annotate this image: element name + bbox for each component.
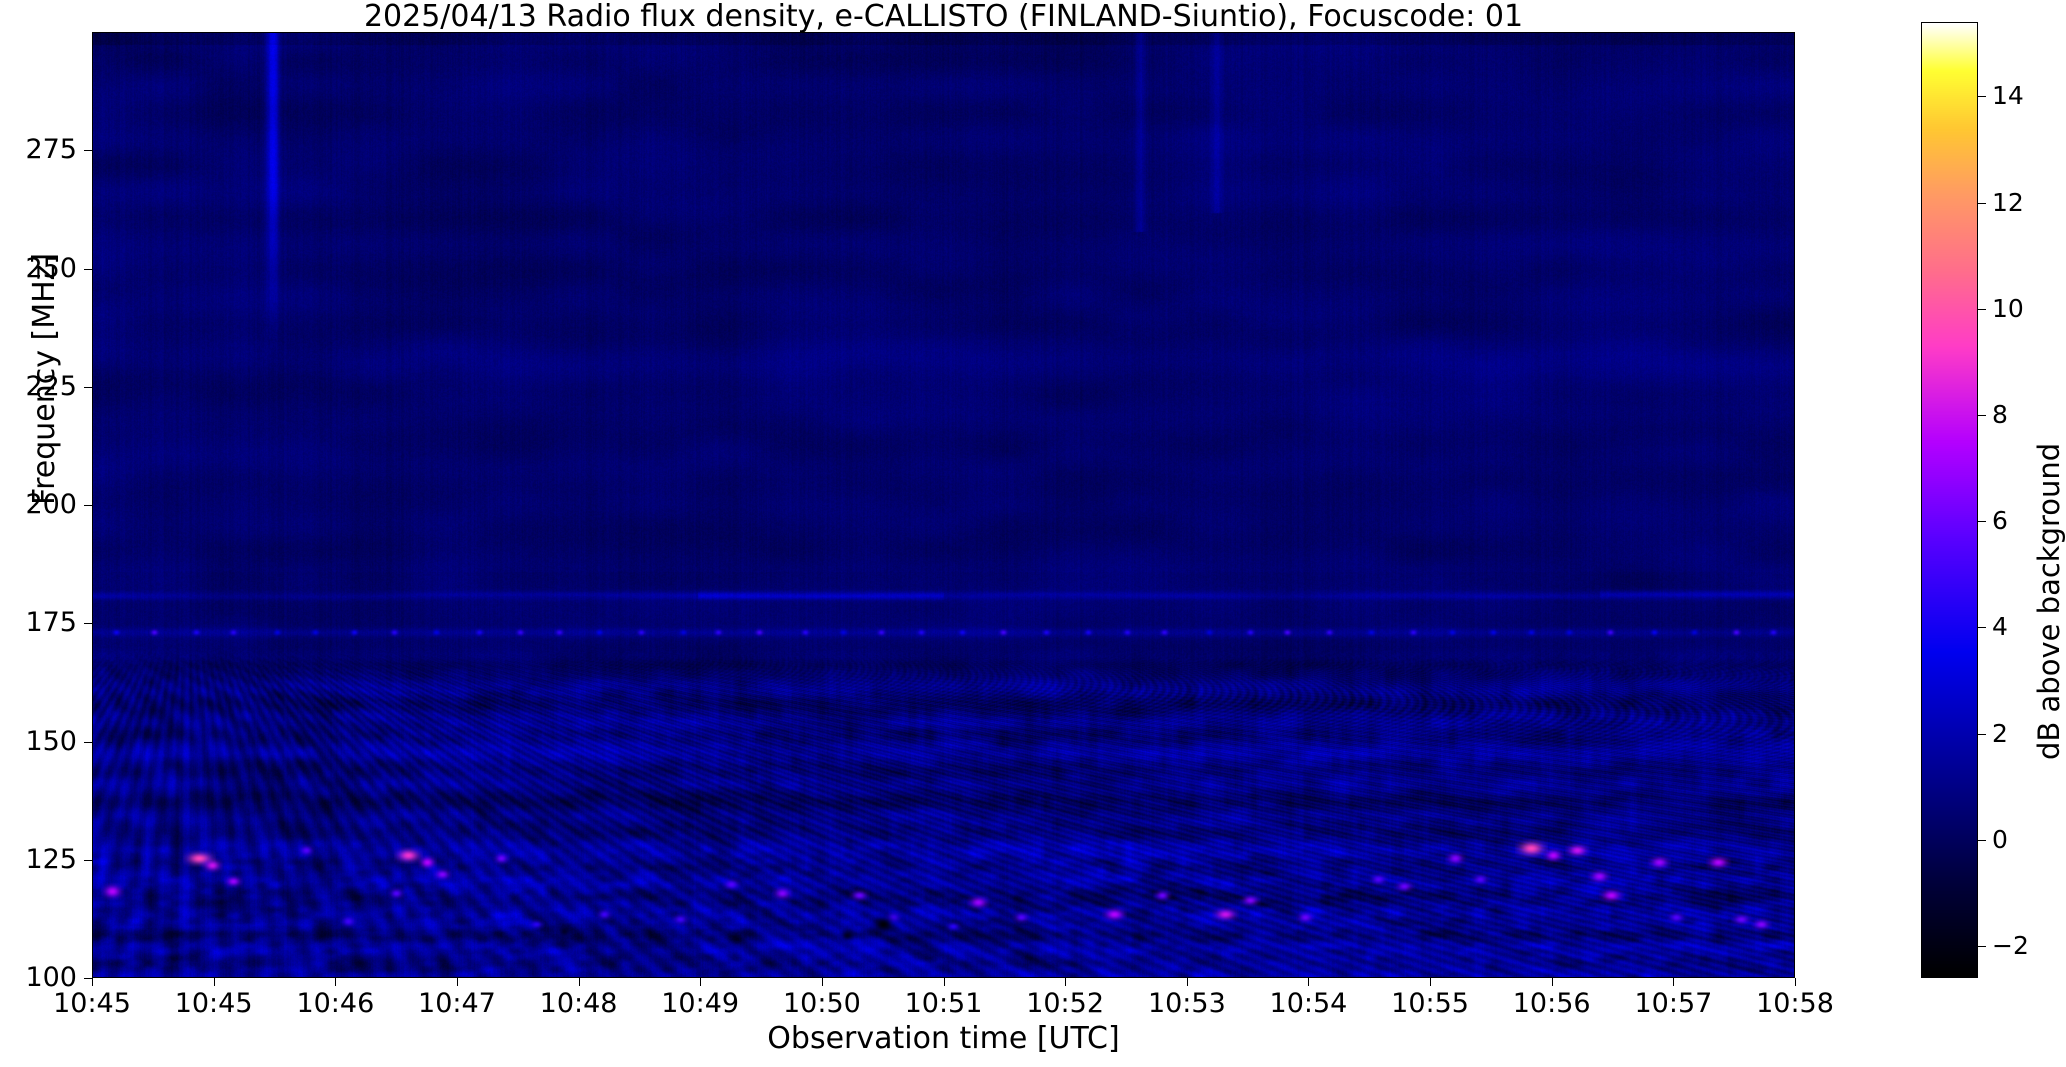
y-tick-mark bbox=[84, 860, 92, 861]
colorbar-tick-mark bbox=[1978, 521, 1986, 522]
x-tick-mark bbox=[1187, 978, 1188, 986]
y-tick-mark bbox=[84, 150, 92, 151]
x-tick-label: 10:49 bbox=[630, 990, 770, 1017]
colorbar-tick-mark bbox=[1978, 415, 1986, 416]
x-tick-label: 10:45 bbox=[22, 990, 162, 1017]
colorbar-tick-label: 14 bbox=[1992, 83, 2024, 108]
x-tick-mark bbox=[944, 978, 945, 986]
colorbar-tick-mark bbox=[1978, 734, 1986, 735]
colorbar bbox=[1921, 22, 1978, 978]
colorbar-tick-label: 4 bbox=[1992, 614, 2008, 639]
colorbar-tick-label: 10 bbox=[1992, 296, 2024, 321]
y-tick-mark bbox=[84, 505, 92, 506]
colorbar-tick-mark bbox=[1978, 96, 1986, 97]
colorbar-tick-label: 2 bbox=[1992, 721, 2008, 746]
colorbar-tick-label: 12 bbox=[1992, 190, 2024, 215]
colorbar-tick-mark bbox=[1978, 309, 1986, 310]
x-tick-mark bbox=[579, 978, 580, 986]
x-tick-mark bbox=[214, 978, 215, 986]
x-tick-label: 10:53 bbox=[1117, 990, 1257, 1017]
x-axis-title: Observation time [UTC] bbox=[92, 1023, 1795, 1055]
x-tick-mark bbox=[457, 978, 458, 986]
page-title: 2025/04/13 Radio flux density, e-CALLIST… bbox=[92, 2, 1795, 32]
y-tick-mark bbox=[84, 623, 92, 624]
x-tick-label: 10:56 bbox=[1482, 990, 1622, 1017]
spectrogram-axes[interactable] bbox=[92, 32, 1795, 978]
colorbar-tick-label: 6 bbox=[1992, 508, 2008, 533]
x-tick-label: 10:45 bbox=[144, 990, 284, 1017]
colorbar-tick-label: −2 bbox=[1992, 933, 2029, 958]
colorbar-gradient bbox=[1922, 23, 1977, 977]
y-tick-label: 175 bbox=[0, 609, 77, 636]
y-tick-mark bbox=[84, 742, 92, 743]
colorbar-tick-mark bbox=[1978, 946, 1986, 947]
y-tick-label: 275 bbox=[0, 136, 77, 163]
x-tick-mark bbox=[335, 978, 336, 986]
x-tick-mark bbox=[1065, 978, 1066, 986]
x-tick-mark bbox=[822, 978, 823, 986]
x-tick-label: 10:54 bbox=[1238, 990, 1378, 1017]
x-tick-label: 10:55 bbox=[1360, 990, 1500, 1017]
x-tick-mark bbox=[1552, 978, 1553, 986]
colorbar-tick-label: 0 bbox=[1992, 827, 2008, 852]
figure-canvas: 2025/04/13 Radio flux density, e-CALLIST… bbox=[0, 0, 2066, 1067]
y-tick-label: 100 bbox=[0, 964, 77, 991]
colorbar-tick-mark bbox=[1978, 840, 1986, 841]
x-tick-mark bbox=[1308, 978, 1309, 986]
y-tick-mark bbox=[84, 387, 92, 388]
y-axis-title: Frequency [MHz] bbox=[30, 253, 60, 505]
colorbar-tick-mark bbox=[1978, 627, 1986, 628]
spectrogram-image bbox=[93, 33, 1795, 978]
x-tick-mark bbox=[1430, 978, 1431, 986]
x-tick-label: 10:50 bbox=[752, 990, 892, 1017]
y-tick-mark bbox=[84, 978, 92, 979]
colorbar-tick-label: 8 bbox=[1992, 402, 2008, 427]
x-tick-label: 10:58 bbox=[1725, 990, 1865, 1017]
x-tick-label: 10:57 bbox=[1603, 990, 1743, 1017]
x-tick-label: 10:46 bbox=[265, 990, 405, 1017]
colorbar-tick-mark bbox=[1978, 203, 1986, 204]
y-tick-label: 150 bbox=[0, 728, 77, 755]
x-tick-label: 10:47 bbox=[387, 990, 527, 1017]
x-tick-mark bbox=[1795, 978, 1796, 986]
colorbar-title: dB above background bbox=[2035, 443, 2064, 760]
x-tick-mark bbox=[92, 978, 93, 986]
y-tick-label: 125 bbox=[0, 846, 77, 873]
x-tick-label: 10:52 bbox=[995, 990, 1135, 1017]
y-tick-mark bbox=[84, 269, 92, 270]
x-tick-mark bbox=[1673, 978, 1674, 986]
x-tick-label: 10:51 bbox=[874, 990, 1014, 1017]
x-tick-mark bbox=[700, 978, 701, 986]
x-tick-label: 10:48 bbox=[509, 990, 649, 1017]
